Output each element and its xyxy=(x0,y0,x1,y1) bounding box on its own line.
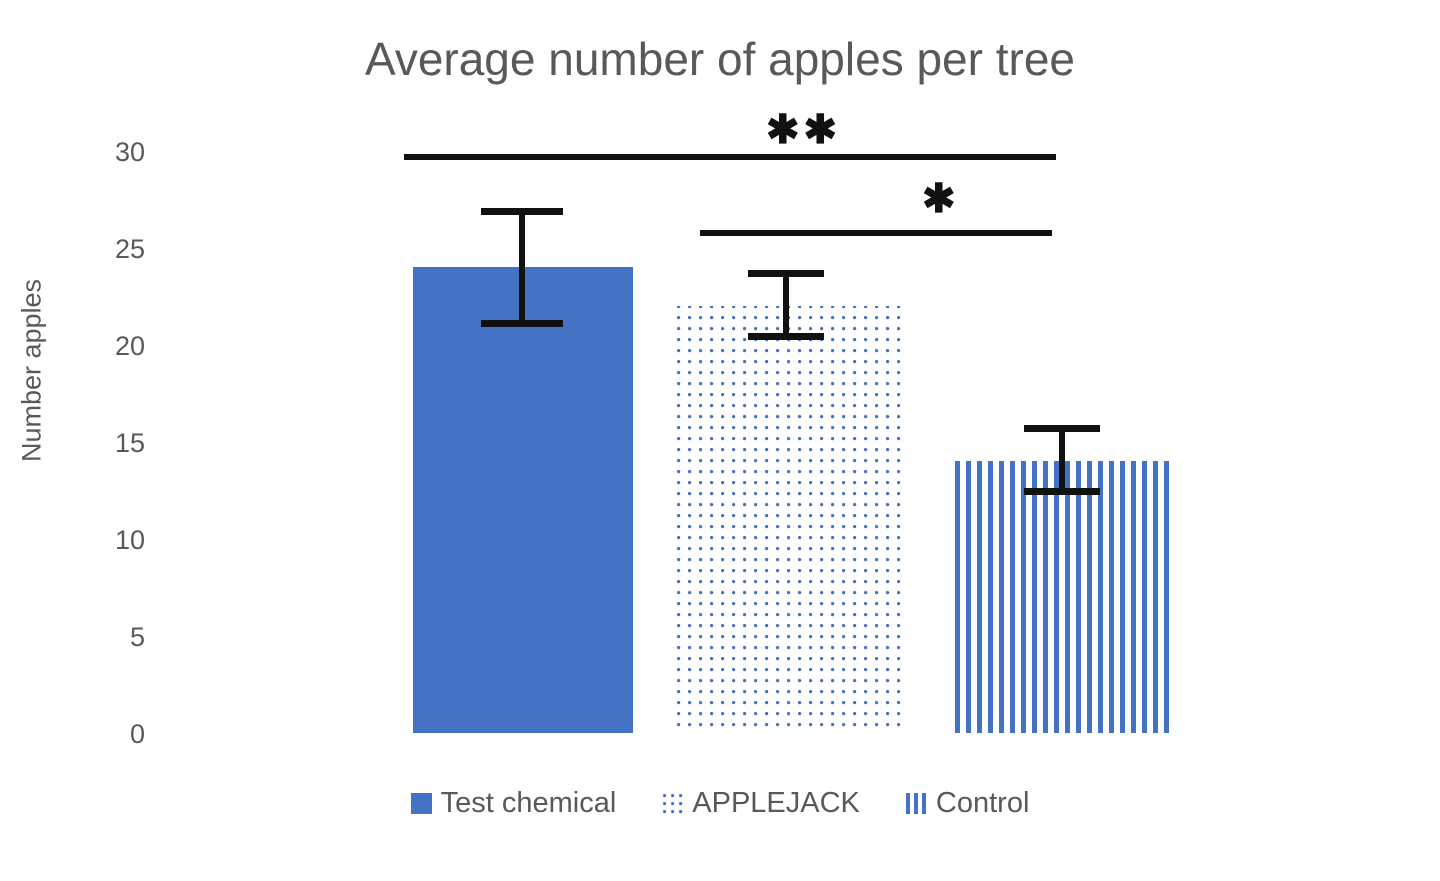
error-bar-cap-bottom xyxy=(481,320,563,327)
legend-label-applejack: APPLEJACK xyxy=(692,787,860,820)
significance-stars-top: ✱✱ xyxy=(766,110,841,150)
legend-item-control[interactable]: Control xyxy=(906,787,1030,820)
legend-item-applejack[interactable]: APPLEJACK xyxy=(662,787,860,820)
significance-line-second xyxy=(700,230,1052,236)
chart-legend: Test chemical APPLEJACK Control xyxy=(0,787,1440,820)
bar-applejack[interactable] xyxy=(676,306,901,733)
plot-area: ✱✱ ✱ xyxy=(0,0,1440,881)
error-bar-cap-top xyxy=(1024,425,1100,432)
error-bar-cap-top xyxy=(481,208,563,215)
legend-label-test-chemical: Test chemical xyxy=(441,787,617,820)
bar-test-chemical[interactable] xyxy=(413,267,633,733)
error-bar-stem xyxy=(519,208,525,327)
bar-control[interactable] xyxy=(955,461,1175,733)
error-bar-cap-bottom xyxy=(748,333,824,340)
significance-line-top xyxy=(404,154,1056,160)
error-bar-stem xyxy=(783,270,789,340)
error-bar-applejack xyxy=(748,270,824,340)
solid-square-icon xyxy=(411,793,432,814)
error-bar-cap-bottom xyxy=(1024,488,1100,495)
legend-label-control: Control xyxy=(936,787,1030,820)
legend-item-test-chemical[interactable]: Test chemical xyxy=(411,787,617,820)
dotted-square-icon xyxy=(662,793,683,814)
error-bar-test-chemical xyxy=(481,208,563,327)
error-bar-control xyxy=(1024,425,1100,495)
bar-chart: Average number of apples per tree Number… xyxy=(0,0,1440,881)
error-bar-cap-top xyxy=(748,270,824,277)
striped-square-icon xyxy=(906,793,927,814)
significance-stars-second: ✱ xyxy=(922,179,960,219)
error-bar-stem xyxy=(1059,425,1065,495)
